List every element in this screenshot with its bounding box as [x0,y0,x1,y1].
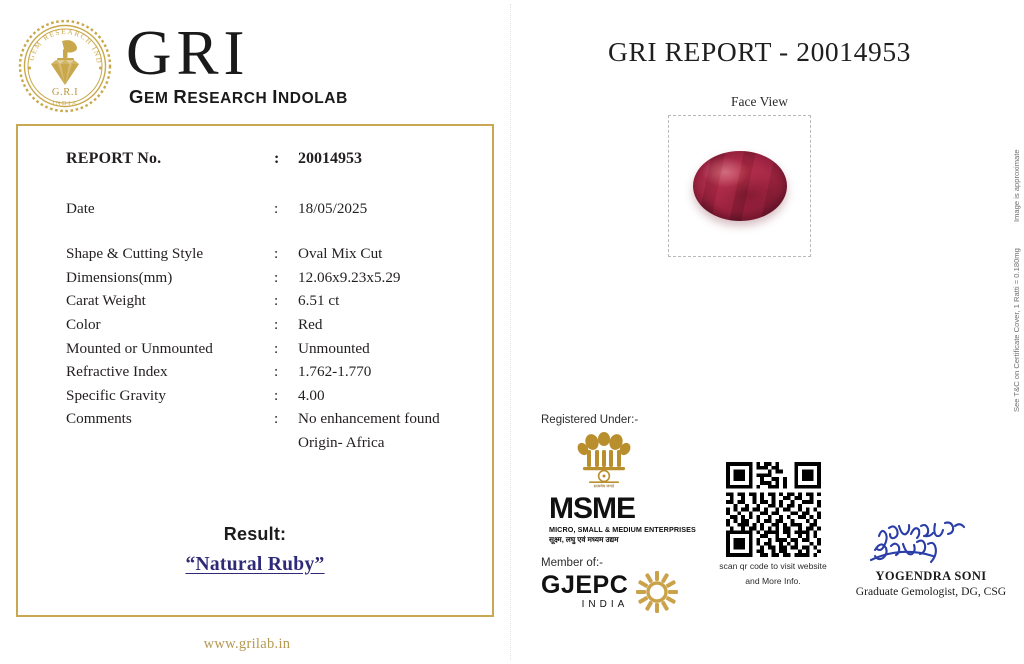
qr-section: scan qr code to visit website and More I… [710,462,836,586]
gri-logotype: GRI [126,24,348,84]
field-value: Oval Mix Cut [298,242,476,266]
field-value: No enhancement found [298,407,476,431]
field-value: 6.51 ct [298,289,476,313]
member-of-label: Member of:- [541,557,711,569]
brand-wordmark: GRI GEM RESEARCH INDOLAB [126,24,348,108]
field-label: Dimensions(mm) [66,266,274,290]
msme-line-1: MICRO, SMALL & MEDIUM ENTERPRISES [549,525,711,534]
field-value: 1.762-1.770 [298,360,476,384]
separator: : [274,147,298,172]
left-panel: GEM RESEARCH INDOLAB [0,0,510,664]
gjepc-wordmark: GJEPC [541,573,628,598]
separator: : [274,384,298,408]
report-number-value: 20014953 [298,147,476,172]
qr-caption-line-2: and More Info. [710,576,836,587]
field-label: Comments [66,407,274,431]
right-panel: GRI REPORT - 20014953 Face View Register… [511,0,1024,664]
website-footer[interactable]: www.grilab.in [0,636,494,653]
svg-text:INDIA: INDIA [52,100,78,107]
table-row-comments: Comments : No enhancement found [66,407,476,431]
separator: : [274,242,298,266]
field-label: Mounted or Unmounted [66,337,274,361]
gjepc-country: INDIA [541,599,628,610]
field-label: Color [66,313,274,337]
msme-line-2: सूक्ष्म, लघु एवं मध्यम उद्यम [549,535,711,545]
qr-caption-line-1: scan qr code to visit website [710,561,836,572]
side-note-image-approximate: Image is approximate [1012,149,1021,222]
table-row-report-number: REPORT No. : 20014953 [66,147,476,172]
gemologist-role: Graduate Gemologist, DG, CSG [851,585,1011,598]
table-row-mounted: Mounted or Unmounted : Unmounted [66,337,476,361]
ashoka-emblem-icon: सत्यमेव जयते [573,430,635,488]
gem-facets [693,151,787,221]
separator: : [274,313,298,337]
gemologist-name: YOGENDRA SONI [851,569,1011,584]
separator: : [274,407,298,431]
field-label: Specific Gravity [66,384,274,408]
table-row-shape: Shape & Cutting Style : Oval Mix Cut [66,242,476,266]
msme-logo: MSME MICRO, SMALL & MEDIUM ENTERPRISES स… [549,495,711,545]
table-row-specific-gravity: Specific Gravity : 4.00 [66,384,476,408]
certificate-details-box: REPORT No. : 20014953 Date : 18/05/2025 … [16,124,494,617]
field-value: Red [298,313,476,337]
signature-block: YOGENDRA SONI Graduate Gemologist, DG, C… [851,520,1011,598]
result-label: Result: [18,524,492,545]
registered-under-label: Registered Under:- [541,414,711,426]
page-title: GRI REPORT - 20014953 [511,36,1008,68]
comments-line-2: Origin- Africa [298,431,476,455]
field-value: 4.00 [298,384,476,408]
side-note-terms: See T&C on Certificate Cover, 1 Ratti = … [1012,248,1021,412]
table-row-refractive-index: Refractive Index : 1.762-1.770 [66,360,476,384]
brand-header: GEM RESEARCH INDOLAB [18,14,488,118]
separator: : [274,289,298,313]
details-table: REPORT No. : 20014953 Date : 18/05/2025 … [66,147,476,454]
svg-text:सत्यमेव जयते: सत्यमेव जयते [594,483,615,488]
field-label: Shape & Cutting Style [66,242,274,266]
msme-mark: MSME [549,495,711,524]
date-value: 18/05/2025 [298,197,476,221]
field-value: Unmounted [298,337,476,361]
gri-tagline: GEM RESEARCH INDOLAB [129,86,348,108]
gri-seal-logo: GEM RESEARCH INDOLAB [18,19,112,113]
field-label: Carat Weight [66,289,274,313]
qr-code-icon[interactable] [726,462,821,557]
gemstone-image [693,151,787,221]
certificate-page: GEM RESEARCH INDOLAB [0,0,1024,664]
table-row-color: Color : Red [66,313,476,337]
gjepc-sunburst-icon [635,570,679,614]
date-label: Date [66,197,274,221]
separator: : [274,197,298,221]
result-value: “Natural Ruby” [18,554,492,576]
table-row-dimensions: Dimensions(mm) : 12.06x9.23x5.29 [66,266,476,290]
handwritten-signature-icon [865,520,997,568]
separator: : [274,337,298,361]
table-row-carat-weight: Carat Weight : 6.51 ct [66,289,476,313]
field-label: Refractive Index [66,360,274,384]
result-section: Result: “Natural Ruby” [18,524,492,576]
gjepc-logo: GJEPC INDIA [541,570,711,614]
accreditation-block: Registered Under:- [541,414,711,614]
separator: : [274,266,298,290]
gem-image-frame [668,115,811,257]
face-view-label: Face View [511,94,1008,110]
separator: : [274,360,298,384]
svg-text:G.R.I: G.R.I [52,87,78,98]
field-value: 12.06x9.23x5.29 [298,266,476,290]
table-row-date: Date : 18/05/2025 [66,197,476,221]
report-number-label: REPORT No. [66,147,274,172]
